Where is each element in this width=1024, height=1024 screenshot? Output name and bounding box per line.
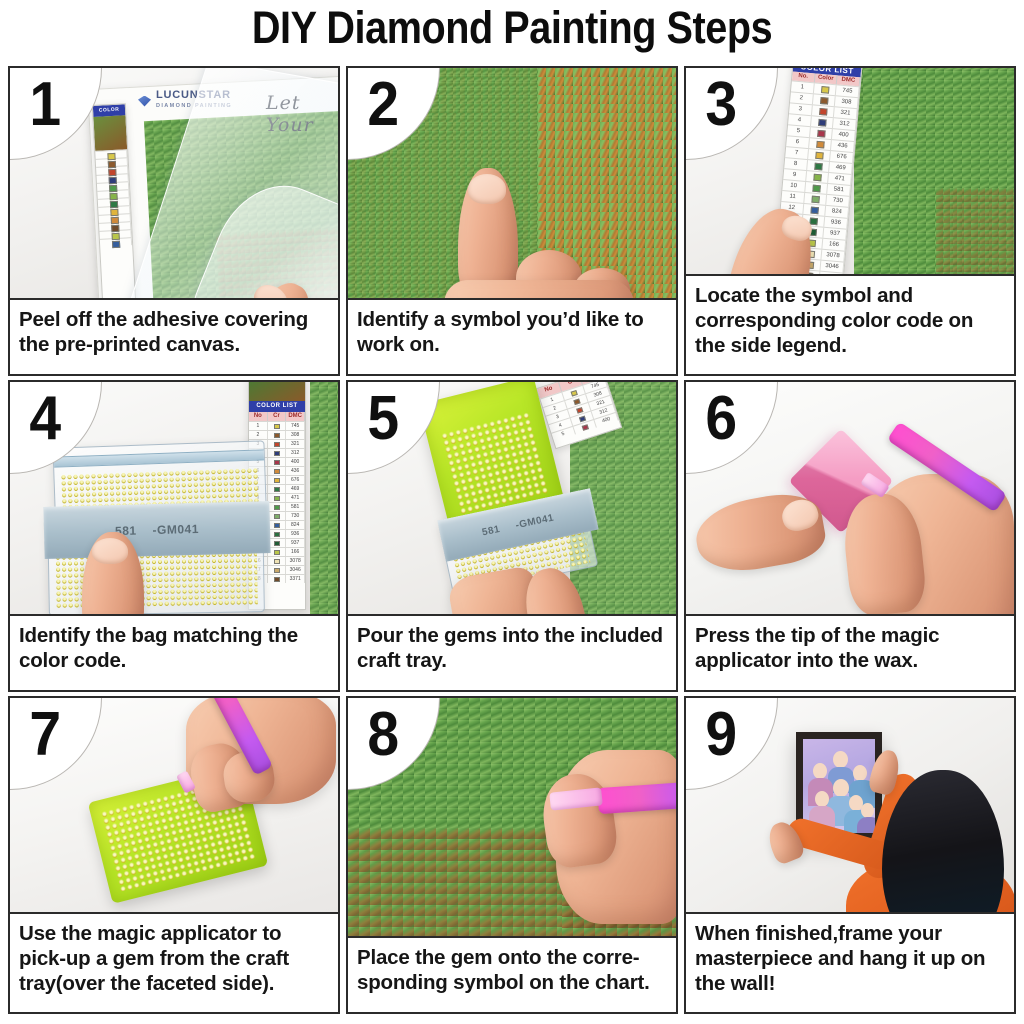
step-caption-4: Identify the bag matching the color code… bbox=[10, 616, 338, 690]
step-photo-5: NoCDMC 17452308332143125400 581-GM041 bbox=[348, 382, 676, 616]
step-number-9: 9 bbox=[705, 704, 737, 766]
page-title: DIY Diamond Painting Steps bbox=[61, 2, 962, 54]
steps-grid: COLOR bbox=[8, 66, 1016, 1016]
step-number-5: 5 bbox=[367, 388, 399, 450]
legend-cell-color bbox=[804, 193, 827, 205]
step-card-6: 6 Press the tip of the magic applicator … bbox=[684, 380, 1016, 692]
legend-cell-no: 10 bbox=[782, 180, 805, 192]
legend-cell-no: 9 bbox=[783, 169, 806, 181]
legend-cell-dmc: 312 bbox=[833, 118, 856, 130]
legend-cell-no: 7 bbox=[785, 147, 808, 159]
legend-row: 1745 bbox=[249, 421, 305, 430]
legend-cell-no: 8 bbox=[784, 158, 807, 170]
step-photo-8: 8 bbox=[348, 698, 676, 938]
legend-cell-dmc: 676 bbox=[830, 151, 853, 163]
legend-cell-color bbox=[807, 160, 830, 172]
legend-cell-dmc: 730 bbox=[827, 195, 850, 207]
legend-cell-no: 5 bbox=[787, 125, 810, 137]
step-card-4: COLOR LIST NoCrDMC 174523083321431254006… bbox=[8, 380, 340, 692]
step-card-5: NoCDMC 17452308332143125400 581-GM041 bbox=[346, 380, 678, 692]
step-card-3: COLOR LIST No. Color DMC 174523083321431… bbox=[684, 66, 1016, 376]
step-caption-9: When finished,frame your masterpiece and… bbox=[686, 914, 1014, 1012]
legend-cell-dmc: 436 bbox=[831, 140, 854, 152]
legend-cell-dmc: 936 bbox=[825, 217, 848, 229]
step-caption-8: Place the gem onto the corre-sponding sy… bbox=[348, 938, 676, 1012]
legend-cell-color bbox=[812, 105, 835, 117]
step-photo-9: 9 bbox=[686, 698, 1014, 914]
step-photo-7: 7 bbox=[10, 698, 338, 914]
legend-cell-dmc: 3046 bbox=[821, 261, 844, 273]
legend-row: 2308 bbox=[249, 430, 305, 439]
step-number-8: 8 bbox=[367, 704, 399, 766]
step-card-9: 9 When finished,frame your masterpiece a… bbox=[684, 696, 1016, 1014]
legend-cell-color bbox=[810, 127, 833, 139]
legend-cell-dmc: 3078 bbox=[822, 250, 845, 262]
step-number-2: 2 bbox=[367, 74, 399, 136]
bag-code-suffix: -GM041 bbox=[152, 522, 199, 537]
step-number-1: 1 bbox=[29, 74, 61, 136]
step-number-4: 4 bbox=[29, 388, 61, 450]
step-number-3: 3 bbox=[705, 74, 737, 136]
legend-cell-color bbox=[806, 171, 829, 183]
legend-cell-no: 1 bbox=[791, 81, 814, 93]
diamond-logo-icon bbox=[138, 96, 151, 107]
legend-cell-no: 4 bbox=[788, 114, 811, 126]
step-number-7: 7 bbox=[29, 704, 61, 766]
step-card-1: COLOR bbox=[8, 66, 340, 376]
legend-cell-color bbox=[814, 83, 837, 95]
legend-cell-dmc: 400 bbox=[832, 129, 855, 141]
step-number-6: 6 bbox=[705, 388, 737, 450]
legend-cell-color bbox=[809, 138, 832, 150]
step-photo-3: COLOR LIST No. Color DMC 174523083321431… bbox=[686, 68, 1014, 276]
step-caption-3: Locate the symbol and corresponding colo… bbox=[686, 276, 1014, 374]
bag-code-label: 581 -GM041 bbox=[43, 501, 270, 559]
legend-cell-dmc: 308 bbox=[835, 96, 858, 108]
step-caption-2: Identify a symbol you’d like to work on. bbox=[348, 300, 676, 374]
legend-cell-dmc: 469 bbox=[829, 162, 852, 174]
legend-cell-no: 11 bbox=[781, 191, 804, 203]
step-photo-6: 6 bbox=[686, 382, 1014, 616]
legend-cell-dmc: 937 bbox=[824, 228, 847, 240]
legend-cell-dmc: 166 bbox=[823, 239, 846, 251]
step-card-8: 8 Place the gem onto the corre-sponding … bbox=[346, 696, 678, 1014]
infographic-page: DIY Diamond Painting Steps COLOR bbox=[0, 0, 1024, 1024]
legend-cell-dmc: 321 bbox=[834, 107, 857, 119]
legend-cell-dmc: 471 bbox=[828, 173, 851, 185]
legend-cell-dmc: 745 bbox=[836, 85, 859, 97]
legend-cell-no: 3 bbox=[789, 103, 812, 115]
step-photo-1: COLOR bbox=[10, 68, 338, 300]
step-caption-1: Peel off the adhesive covering the pre-p… bbox=[10, 300, 338, 374]
legend-cell-color bbox=[813, 94, 836, 106]
step-caption-5: Pour the gems into the included craft tr… bbox=[348, 616, 676, 690]
step-caption-7: Use the magic applicator to pick-up a ge… bbox=[10, 914, 338, 1012]
legend-cell-dmc: 581 bbox=[828, 184, 851, 196]
legend-cell-dmc: 824 bbox=[826, 206, 849, 218]
legend-cell-color bbox=[808, 149, 831, 161]
step-card-7: 7 Use the magic applicator to pick-up a … bbox=[8, 696, 340, 1014]
step-caption-6: Press the tip of the magic applicator in… bbox=[686, 616, 1014, 690]
legend-cell-no: 2 bbox=[790, 92, 813, 104]
legend-cell-no: 6 bbox=[786, 136, 809, 148]
legend-cell-color bbox=[803, 204, 826, 216]
step-card-2: 2 Identify a symbol you’d like to work o… bbox=[346, 66, 678, 376]
legend-cell-color bbox=[811, 116, 834, 128]
legend-cell-color bbox=[805, 182, 828, 194]
step-photo-4: COLOR LIST NoCrDMC 174523083321431254006… bbox=[10, 382, 338, 616]
step-photo-2: 2 bbox=[348, 68, 676, 300]
